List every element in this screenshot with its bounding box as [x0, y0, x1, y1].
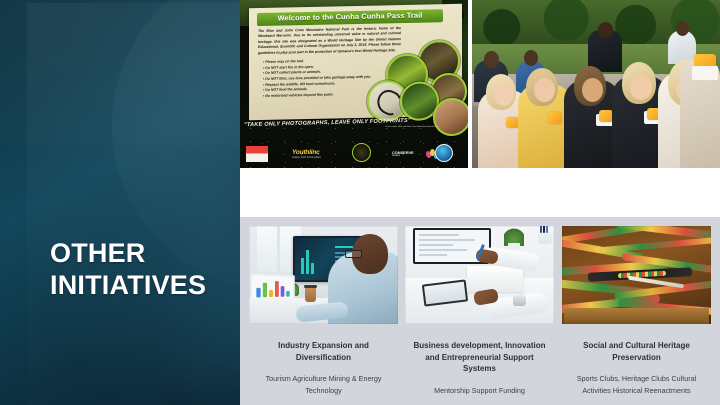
sign-header-banner: Welcome to the Cunha Cunha Pass Trail	[257, 9, 443, 26]
left-title-panel: OTHER INITIATIVES	[0, 0, 240, 405]
sign-wildlife-photo-circles	[367, 40, 468, 124]
page-title-line-1: OTHER	[50, 238, 235, 270]
initiative-card-cultural-heritage: Social and Cultural Heritage Preservatio…	[562, 226, 711, 398]
sign-board: Welcome to the Cunha Cunha Pass Trail Th…	[249, 4, 462, 120]
background-person-head	[598, 22, 613, 38]
page-title-line-2: INITIATIVES	[50, 270, 235, 302]
sign-credit-text: Photo credits: Blue and John Crow Mounta…	[366, 126, 458, 129]
photo-border	[405, 226, 554, 324]
card-title: Industry Expansion and Diversification	[255, 340, 392, 363]
student-head	[494, 83, 514, 106]
initiative-card-industry-expansion: Industry Expansion and Diversification T…	[249, 226, 398, 398]
panel-inset-shape	[27, 3, 240, 405]
sponsor-logo-globe-icon	[435, 144, 453, 162]
napkin	[692, 66, 718, 80]
trail-sign-photo: Welcome to the Cunha Cunha Pass Trail Th…	[240, 0, 468, 168]
initiative-card-business-development: Business development, Innovation and Ent…	[405, 226, 554, 397]
background-person-head	[524, 50, 538, 66]
initiatives-section: Industry Expansion and Diversification T…	[240, 217, 720, 405]
card-subtitle: Sports Clubs, Heritage Clubs Cultural Ac…	[568, 373, 705, 397]
page-title: OTHER INITIATIVES	[50, 238, 235, 302]
sign-sponsor-logos: Youthlinc Linking Youth Communities CONS…	[240, 140, 468, 166]
students-eating-outdoors-photo	[472, 0, 720, 168]
background-person-head	[484, 51, 499, 68]
office-analytics-photo	[249, 226, 398, 324]
sponsor-logo-youthlinc-sub: Linking Youth Communities	[292, 156, 326, 159]
sponsor-logo-youthlinc: Youthlinc Linking Youth Communities	[292, 149, 326, 162]
photo-border	[562, 226, 711, 324]
student-head	[582, 78, 603, 102]
craft-bracelets-photo	[562, 226, 711, 324]
background-person-head	[676, 21, 689, 36]
top-image-row: Welcome to the Cunha Cunha Pass Trail Th…	[240, 0, 720, 168]
sponsor-logo-youthlinc-text: Youthlinc	[292, 149, 320, 156]
wildlife-circle-crab	[433, 98, 468, 137]
card-subtitle: Tourism Agriculture Mining & Energy Tech…	[255, 373, 392, 397]
card-subtitle: Mentorship Support Funding	[411, 385, 548, 397]
photo-border	[249, 226, 398, 324]
sponsor-logo-flag	[246, 146, 268, 162]
student-head	[534, 78, 555, 102]
sponsor-logo-park-seal	[352, 143, 371, 162]
sponsor-logo-conserve-sub: Jamaica	[392, 155, 430, 157]
card-title: Social and Cultural Heritage Preservatio…	[568, 340, 705, 363]
sponsor-logo-conserve: CONSERVE Jamaica	[392, 150, 430, 162]
card-title: Business development, Innovation and Ent…	[411, 340, 548, 375]
sign-header-text: Welcome to the Cunha Cunha Pass Trail	[257, 10, 443, 23]
initiative-cards: Industry Expansion and Diversification T…	[240, 217, 720, 405]
card-caption: Business development, Innovation and Ent…	[405, 340, 554, 397]
card-caption: Social and Cultural Heritage Preservatio…	[562, 340, 711, 398]
student-head	[630, 75, 652, 100]
food-item	[599, 110, 613, 122]
food-item	[548, 112, 562, 124]
card-caption: Industry Expansion and Diversification T…	[249, 340, 398, 398]
slide-root: OTHER INITIATIVES Welcome to the Cunha C…	[0, 0, 720, 405]
business-paperwork-photo	[405, 226, 554, 324]
